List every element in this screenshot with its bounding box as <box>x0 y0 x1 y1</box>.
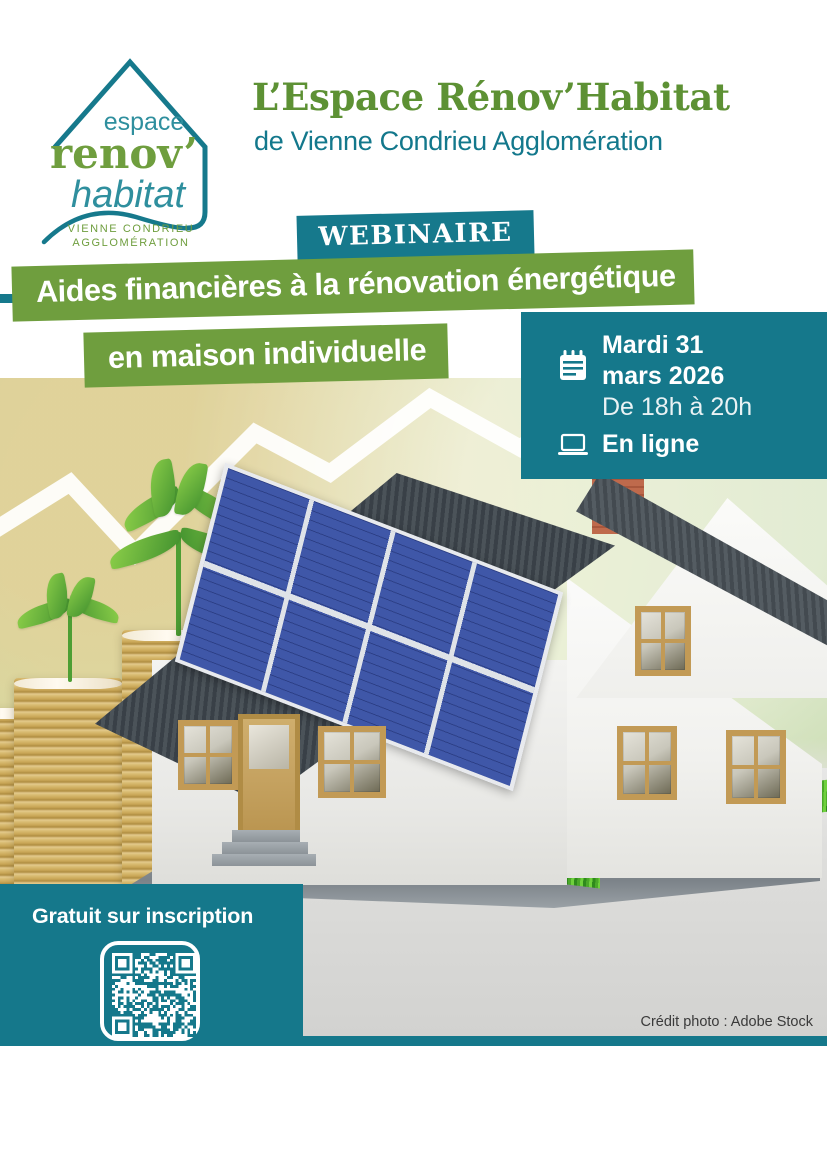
poster: espace renov’ habitat VIENNE CONDRIEU AG… <box>0 0 827 1169</box>
webinaire-tag: WEBINAIRE <box>296 210 534 261</box>
footer: Animé par Info Énergie en Isère AGEDEN <box>0 1046 827 1169</box>
window-upper <box>635 606 691 676</box>
photo-credit: Crédit photo : Adobe Stock <box>641 1014 814 1030</box>
coin-stack <box>14 678 122 898</box>
page-title: L’Espace Rénov’Habitat <box>252 78 812 117</box>
window <box>617 726 677 800</box>
event-location: En ligne <box>602 430 699 459</box>
event-info-block: Mardi 31 mars 2026 De 18h à 20h En ligne <box>521 312 827 479</box>
logo-sub-line1: VIENNE CONDRIEU <box>68 223 195 235</box>
step <box>212 854 316 866</box>
step <box>232 830 300 842</box>
webinaire-tag-label: WEBINAIRE <box>296 210 534 261</box>
logo-word-renov: renov’ <box>50 129 198 178</box>
front-door <box>238 714 300 842</box>
banner-line-2: en maison individuelle <box>83 323 449 387</box>
registration-block: Gratuit sur inscription <box>0 884 303 1036</box>
window <box>726 730 786 804</box>
page-subtitle: de Vienne Condrieu Agglomération <box>254 126 824 157</box>
registration-title: Gratuit sur inscription <box>32 904 253 929</box>
laptop-icon <box>556 433 590 457</box>
logo-sub-line2: AGGLOMÉRATION <box>72 236 189 249</box>
window <box>318 726 386 798</box>
espace-renov-habitat-logo: espace renov’ habitat VIENNE CONDRIEU AG… <box>38 52 223 252</box>
logo-word-habitat: habitat <box>71 174 187 216</box>
step <box>222 842 308 854</box>
banner-line-1: Aides financières à la rénovation énergé… <box>11 249 694 321</box>
qr-code[interactable] <box>100 941 200 1041</box>
window <box>178 720 238 790</box>
event-date-line1: Mardi 31 <box>602 330 752 361</box>
calendar-icon <box>556 350 590 382</box>
event-time: De 18h à 20h <box>602 392 752 423</box>
event-date-line2: mars 2026 <box>602 361 752 392</box>
